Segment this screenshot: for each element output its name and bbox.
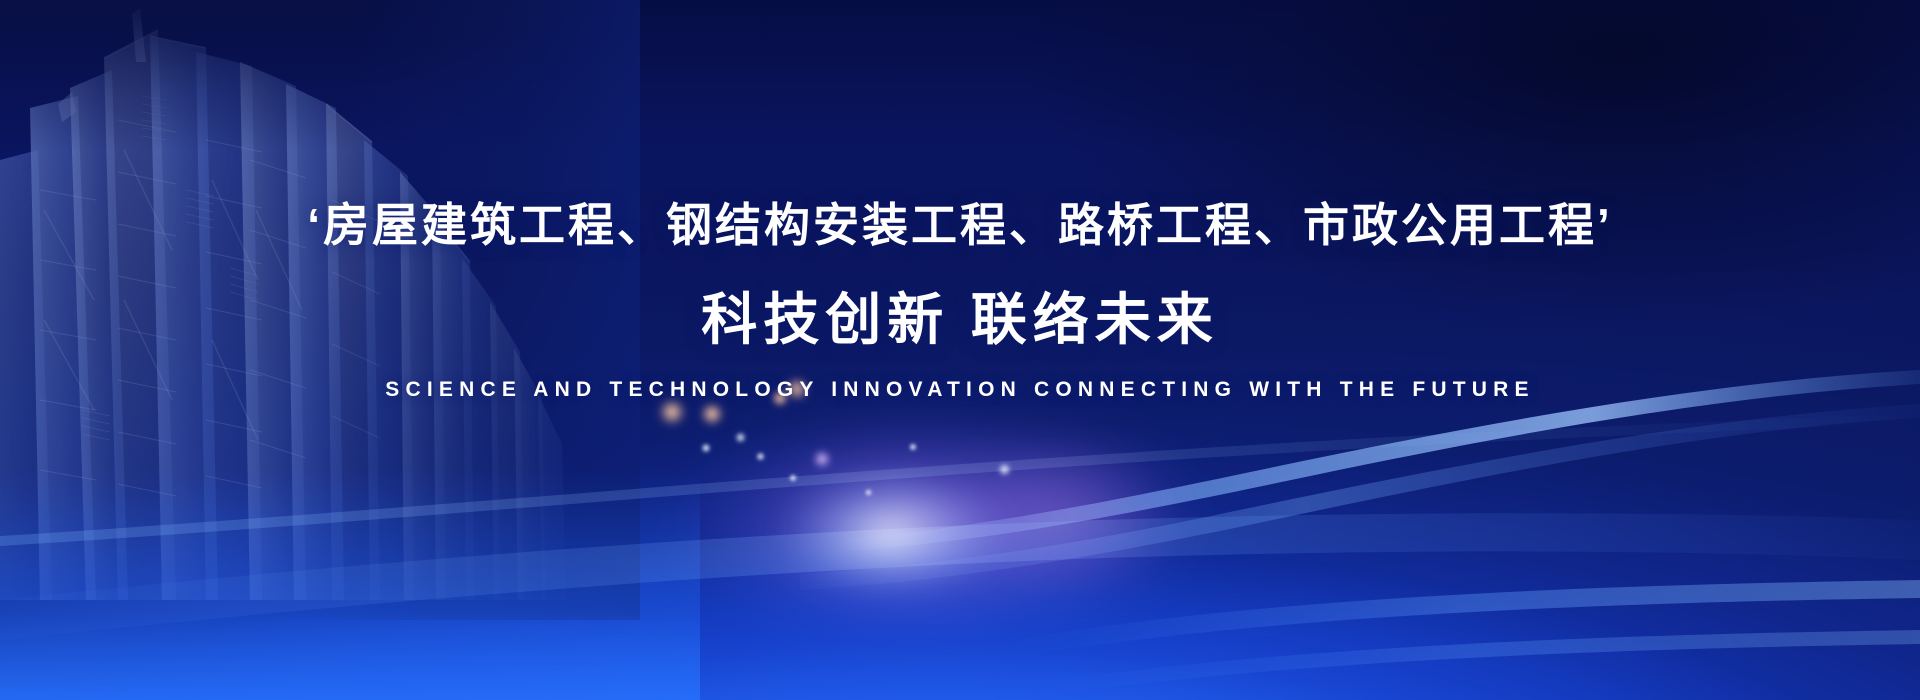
banner-content: ‘房屋建筑工程、钢结构安装工程、路桥工程、市政公用工程’ 科技创新 联络未来 S… bbox=[0, 0, 1920, 700]
hero-banner: ‘房屋建筑工程、钢结构安装工程、路桥工程、市政公用工程’ 科技创新 联络未来 S… bbox=[0, 0, 1920, 700]
page-title: ‘房屋建筑工程、钢结构安装工程、路桥工程、市政公用工程’ bbox=[307, 202, 1613, 248]
slogan-chinese: 科技创新 联络未来 bbox=[701, 292, 1219, 348]
slogan-english: SCIENCE AND TECHNOLOGY INNOVATION CONNEC… bbox=[385, 379, 1534, 400]
